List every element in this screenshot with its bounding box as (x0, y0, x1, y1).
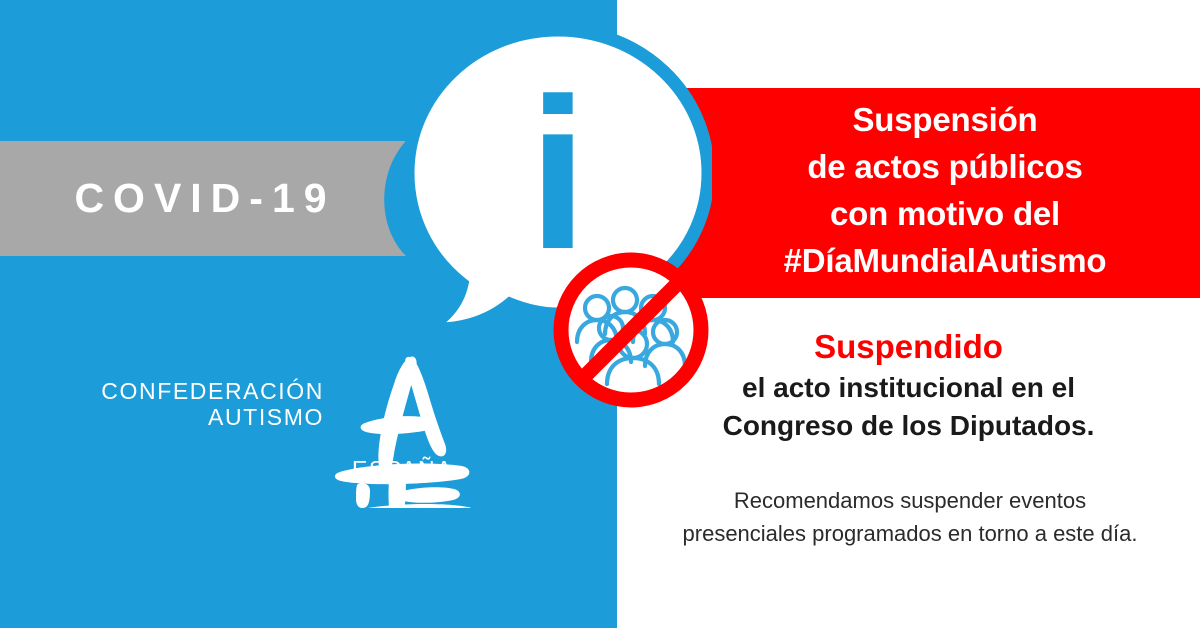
suspended-heading: Suspendido (617, 327, 1200, 367)
headline-hashtag: #DíaMundialAutismo (690, 237, 1200, 284)
headline-line-1: Suspensión (690, 96, 1200, 143)
recommendation-line-1: Recomendamos suspender eventos (630, 484, 1190, 517)
suspended-detail-line-2: Congreso de los Diputados. (617, 407, 1200, 445)
headline-line-3: con motivo del (690, 190, 1200, 237)
logo-monogram-ae-icon (302, 348, 482, 508)
suspended-detail: el acto institucional en el Congreso de … (617, 369, 1200, 445)
logo: CONFEDERACIÓN AUTISMO (80, 348, 560, 508)
poster-canvas: COVID-19 i Suspensión (0, 0, 1200, 628)
headline-text: Suspensión de actos públicos con motivo … (690, 96, 1200, 284)
headline-line-2: de actos públicos (690, 143, 1200, 190)
covid-banner-label: COVID-19 (0, 141, 410, 256)
recommendation-line-2: presenciales programados en torno a este… (630, 517, 1190, 550)
logo-wordmark: CONFEDERACIÓN AUTISMO (80, 378, 324, 430)
logo-line-autismo: AUTISMO (80, 404, 324, 430)
logo-line-confederacion: CONFEDERACIÓN (80, 378, 324, 404)
suspended-detail-line-1: el acto institucional en el (617, 369, 1200, 407)
logo-line-espana: ESPAÑA (352, 456, 453, 483)
recommendation-text: Recomendamos suspender eventos presencia… (630, 484, 1190, 550)
